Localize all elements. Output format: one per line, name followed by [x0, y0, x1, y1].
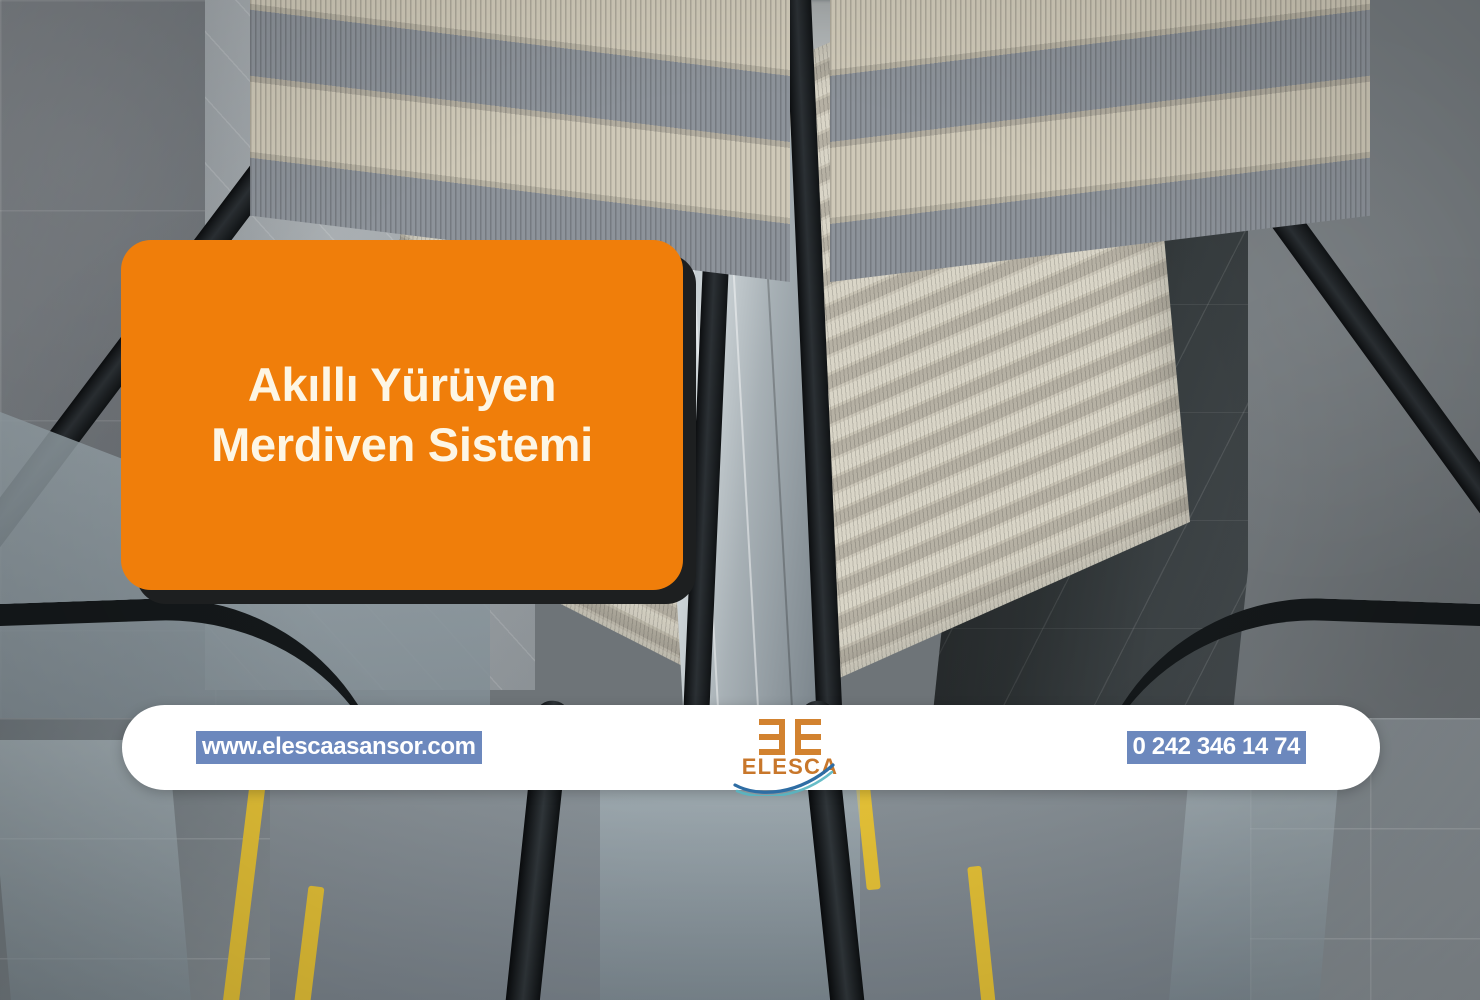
headline-card: Akıllı Yürüyen Merdiven Sistemi: [121, 240, 683, 590]
phone-number[interactable]: 0 242 346 14 74: [1127, 731, 1307, 765]
footer-contact-bar: www.elescaasansor.com ELESCA: [122, 705, 1380, 790]
swoosh-icon: [733, 762, 837, 796]
headline-line-2: Merdiven Sistemi: [211, 418, 593, 471]
website-link[interactable]: www.elescaasansor.com: [196, 731, 482, 765]
logo-wordmark: ELESCA: [742, 756, 838, 778]
elesca-logo[interactable]: ELESCA: [742, 719, 838, 778]
mirrored-double-e-mark: [759, 719, 821, 755]
banner-image: Akıllı Yürüyen Merdiven Sistemi www.eles…: [0, 0, 1480, 1000]
headline-line-1: Akıllı Yürüyen: [248, 358, 556, 411]
page-title: Akıllı Yürüyen Merdiven Sistemi: [185, 355, 619, 475]
